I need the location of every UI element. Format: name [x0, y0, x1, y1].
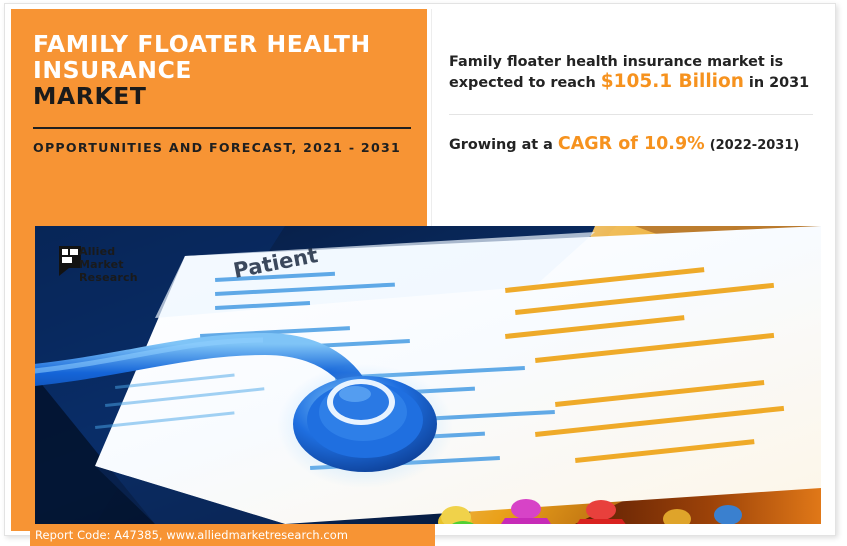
cagr-stat: Growing at a CAGR of 10.9% (2022-2031) [449, 134, 814, 156]
page-title: FAMILY FLOATER HEALTH INSURANCE MARKET [33, 31, 411, 109]
cagr-figure: CAGR of 10.9% [558, 134, 705, 154]
report-subtitle: OPPORTUNITIES AND FORECAST, 2021 - 2031 [33, 139, 415, 157]
market-value-stat: Family floater health insurance market i… [449, 52, 814, 93]
title-line-market: MARKET [33, 83, 411, 109]
report-code-text: Report Code: A47385, www.alliedmarketres… [30, 528, 348, 542]
logo-line-3: Research [79, 272, 138, 283]
cagr-period: (2022-2031) [710, 138, 800, 153]
market-value-trail: in 2031 [749, 75, 809, 91]
market-value-figure: $105.1 Billion [601, 71, 744, 92]
report-card: FAMILY FLOATER HEALTH INSURANCE MARKET O… [4, 3, 836, 536]
cagr-lead: Growing at a [449, 137, 553, 153]
logo: Allied Market Research [57, 244, 177, 288]
title-line-1: FAMILY FLOATER HEALTH [33, 31, 411, 57]
stats-divider [449, 114, 813, 115]
logo-line-1: Allied [79, 246, 115, 257]
logo-line-2: Market [79, 259, 124, 270]
hero-image: Patient [35, 226, 821, 524]
title-line-2: INSURANCE [33, 57, 411, 83]
title-divider [33, 127, 411, 129]
footer-bar: Report Code: A47385, www.alliedmarketres… [30, 524, 435, 546]
